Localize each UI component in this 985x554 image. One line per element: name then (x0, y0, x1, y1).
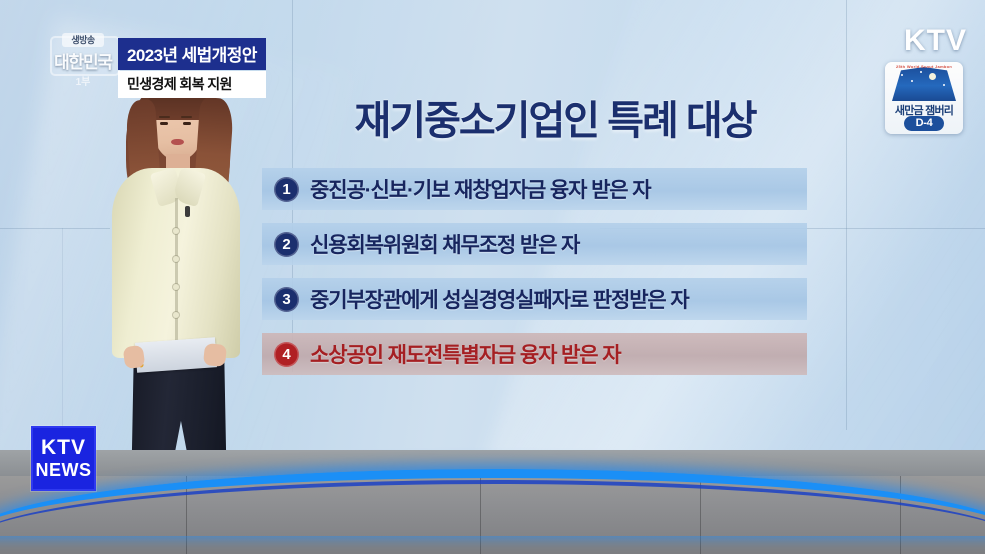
graphic-title: 재기중소기업인 특례 대상 (300, 88, 810, 146)
list-item: 3 중기부장관에게 성실경영실패자로 판정받은 자 (262, 278, 807, 320)
wall-seam-vertical (62, 228, 63, 428)
headline-lower-third: 2023년 세법개정안 민생경제 회복 지원 (118, 38, 266, 98)
list-item-number: 1 (274, 177, 299, 202)
list-item-highlighted: 4 소상공인 재도전특별자금 융자 받은 자 (262, 333, 807, 375)
anchor-button (173, 284, 179, 290)
anchor-eye (183, 122, 191, 125)
star-icon (943, 84, 945, 86)
headline-primary: 2023년 세법개정안 (118, 38, 266, 70)
anchor-eyebrow (159, 116, 170, 118)
broadcast-screenshot: 생방송 대한민국 1부 2023년 세법개정안 민생경제 회복 지원 KTV 2… (0, 0, 985, 554)
list-item-number: 2 (274, 232, 299, 257)
channel-logo-ktv: KTV (904, 24, 967, 58)
list-item-number: 3 (274, 287, 299, 312)
lapel-microphone (185, 206, 190, 217)
channel-bug-line1: KTV (31, 437, 96, 458)
dday-countdown: D-4 (904, 116, 944, 131)
wall-seam-vertical (846, 0, 847, 430)
anchor-blouse-placket (175, 198, 178, 348)
star-icon (911, 80, 913, 82)
headline-secondary: 민생경제 회복 지원 (118, 71, 266, 98)
program-logo-title: 대한민국 (48, 48, 118, 73)
star-icon (901, 74, 903, 76)
star-icon (920, 71, 922, 73)
live-badge: 생방송 (62, 33, 104, 47)
anchor-eyebrow (181, 116, 192, 118)
anchor-hand (203, 343, 227, 367)
channel-bug-ktv-news: KTV NEWS (31, 426, 96, 491)
jamboree-arc-text: 25th World Scout Jamboree 2023 (896, 64, 952, 74)
program-logo-part: 1부 (48, 73, 118, 88)
list-item: 1 중진공·신보·기보 재창업자금 융자 받은 자 (262, 168, 807, 210)
moon-icon (929, 73, 936, 80)
list-item-label: 중진공·신보·기보 재창업자금 융자 받은 자 (310, 174, 650, 204)
anchor-button (173, 312, 179, 318)
graphic-list: 1 중진공·신보·기보 재창업자금 융자 받은 자 2 신용회복위원회 채무조정… (262, 168, 807, 388)
wall-seam-horizontal (0, 228, 110, 229)
channel-bug-line2: NEWS (31, 461, 96, 480)
anchor-button (173, 228, 179, 234)
anchor-eye (160, 122, 168, 125)
list-item-number: 4 (274, 342, 299, 367)
list-item-label: 중기부장관에게 성실경영실패자로 판정받은 자 (310, 284, 689, 314)
program-logo: 생방송 대한민국 1부 (48, 32, 118, 88)
anchor-button (173, 256, 179, 262)
list-item-label: 소상공인 재도전특별자금 융자 받은 자 (310, 339, 620, 369)
anchor-mouth (171, 139, 184, 145)
dday-badge: 25th World Scout Jamboree 2023 새만금 잼버리 D… (885, 62, 963, 134)
list-item: 2 신용회복위원회 채무조정 받은 자 (262, 223, 807, 265)
list-item-label: 신용회복위원회 채무조정 받은 자 (310, 229, 579, 259)
